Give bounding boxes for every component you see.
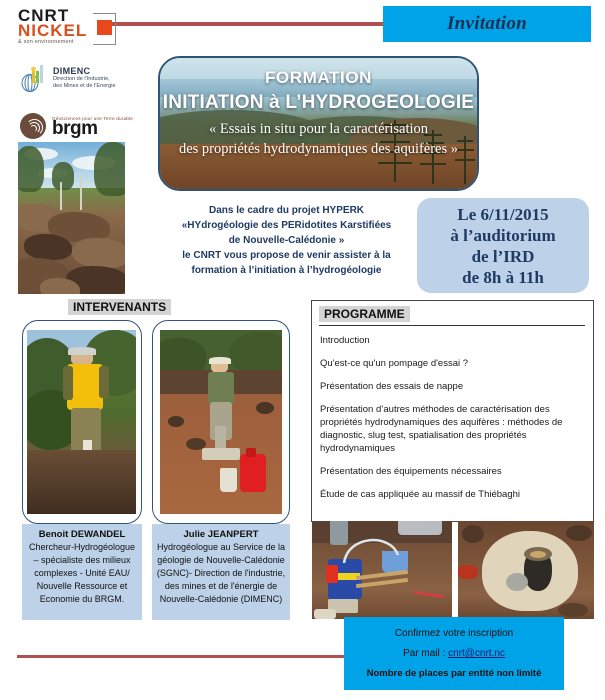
programme-item: Étude de cas appliquée au massif de Thié… [320, 488, 586, 501]
confirm-email-prefix: Par mail : [403, 648, 448, 659]
hero-title-formation: FORMATION [265, 68, 372, 88]
hero-subtitle-line2: des propriétés hydrodynamiques des aquif… [179, 141, 458, 158]
programme-item: Présentation des essais de nappe [320, 380, 586, 393]
event-venue-line1: à l’auditorium [450, 225, 555, 246]
brgm-wave-icon [20, 113, 46, 139]
event-time: de 8h à 11h [462, 267, 544, 288]
programme-divider [319, 325, 585, 326]
footer-red-rule [17, 655, 347, 658]
dimenc-logo: DIMENC Direction de l'Industrie, des Min… [20, 58, 140, 98]
hero-title-initiation: INITIATION à L’HYDROGEOLOGIE [163, 92, 474, 114]
brgm-logo: Géosciences pour une Terre durable brgm [20, 108, 138, 144]
speaker-2-name: Julie JEANPERT [156, 528, 286, 541]
programme-item: Introduction [320, 334, 586, 347]
blurb-line-5: formation à l’initiation à l’hydrogéolog… [163, 263, 410, 278]
speaker-1-caption: Benoit DEWANDEL Chercheur-Hydrogéologue … [22, 524, 142, 620]
header-red-rule [104, 22, 389, 26]
event-date-box: Le 6/11/2015 à l’auditorium de l’IRD de … [417, 198, 589, 293]
event-date: Le 6/11/2015 [457, 204, 548, 225]
invitation-badge: Invitation [383, 6, 591, 42]
cnrt-orange-square-icon [97, 20, 112, 35]
hero-subtitle-line1: « Essais in situ pour la caractérisation [209, 121, 428, 138]
blurb-line-2: «HYdrogéologie des PERidotites Karstifié… [163, 218, 410, 233]
speaker-2-caption: Julie JEANPERT Hydrogéologue au Service … [152, 524, 290, 620]
hero-banner: FORMATION INITIATION à L’HYDROGEOLOGIE «… [158, 56, 479, 191]
programme-list: Introduction Qu'est-ce qu'un pompage d'e… [320, 334, 586, 511]
dimenc-logo-sub1: Direction de l'Industrie, [53, 76, 116, 83]
field-equipment-photo [312, 521, 452, 619]
registration-confirm-box: Confirmez votre inscription Par mail : c… [344, 617, 564, 690]
dimenc-logo-name: DIMENC [53, 66, 116, 76]
speaker-1-photo [27, 330, 136, 514]
confirm-email-link[interactable]: cnrt@cnrt.nc [448, 648, 505, 659]
invitation-label: Invitation [447, 13, 527, 35]
dimenc-emblem-icon [20, 63, 48, 93]
hose-icon [340, 531, 410, 565]
blurb-line-1: Dans le cadre du projet HYPERK [163, 203, 410, 218]
blurb-line-3: de Nouvelle-Calédonie » [163, 233, 410, 248]
confirm-instruction: Confirmez votre inscription [395, 628, 513, 639]
programme-section-heading: PROGRAMME [319, 306, 410, 322]
programme-item: Qu'est-ce qu'un pompage d'essai ? [320, 357, 586, 370]
programme-item: Présentation des équipements nécessaires [320, 465, 586, 478]
confirm-email-line: Par mail : cnrt@cnrt.nc [403, 648, 505, 659]
speaker-2-photo [160, 330, 282, 514]
intervenants-section-heading: INTERVENANTS [68, 299, 171, 315]
speaker-1-name: Benoit DEWANDEL [26, 528, 138, 541]
borehole-photo [458, 521, 594, 619]
dimenc-logo-sub2: des Mines et de l'Energie [53, 83, 116, 90]
cnrt-nickel-logo: CNRT NICKEL & son environnement [18, 8, 114, 50]
karst-landscape-photo [18, 142, 125, 294]
blurb-line-4: le CNRT vous propose de venir assister à… [163, 248, 410, 263]
project-description-block: Dans le cadre du projet HYPERK «HYdrogéo… [163, 203, 410, 278]
programme-item: Présentation d’autres méthodes de caract… [320, 403, 586, 455]
brgm-logo-wordmark: brgm [52, 121, 133, 137]
event-venue-line2: de l’IRD [472, 246, 535, 267]
speaker-1-role: Chercheur-Hydrogéologue – spécialiste de… [26, 541, 138, 606]
confirm-capacity-note: Nombre de places par entité non limité [367, 668, 542, 679]
speaker-2-role: Hydrogéologue au Service de la géologie … [156, 541, 286, 606]
